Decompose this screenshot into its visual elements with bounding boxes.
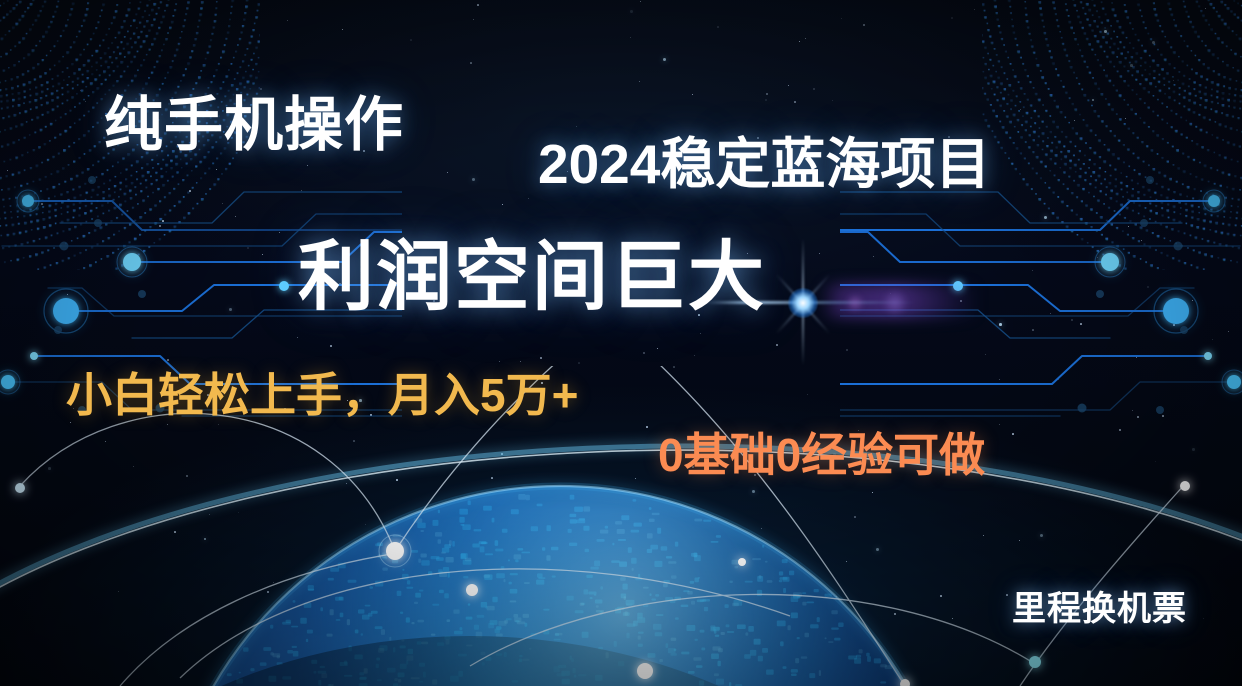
headline-line-4: 小白轻松上手，月入5万+ [66,372,578,418]
headline-line-2: 2024稳定蓝海项目 [538,137,990,192]
headline-line-5: 0基础0经验可做 [658,432,985,478]
headline-line-1: 纯手机操作 [104,96,404,155]
headline-line-3: 利润空间巨大 [298,240,766,316]
promo-banner: 纯手机操作 2024稳定蓝海项目 利润空间巨大 小白轻松上手，月入5万+ 0基础… [0,0,1242,686]
watermark-label: 里程换机票 [1012,592,1187,626]
